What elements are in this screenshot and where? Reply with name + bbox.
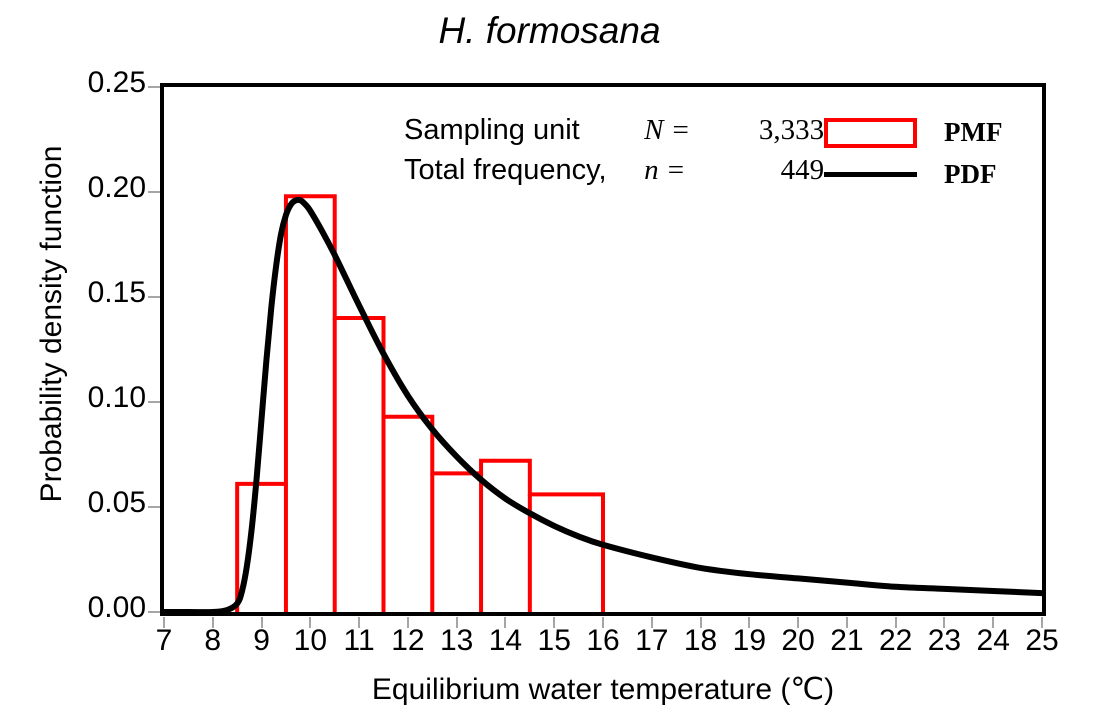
y-tick-mark xyxy=(148,506,160,508)
pmf-step-outline xyxy=(237,196,603,612)
legend-symbol-n-small: n = xyxy=(644,154,716,187)
y-tick-label: 0.15 xyxy=(0,276,146,310)
page-title: H. formosana xyxy=(0,10,1099,52)
pmf-swatch-icon xyxy=(824,118,917,148)
y-tick-label: 0.00 xyxy=(0,591,146,625)
y-axis-title: Probability density function xyxy=(35,24,69,624)
y-tick-label: 0.10 xyxy=(0,381,146,415)
y-tick-label: 0.25 xyxy=(0,66,146,100)
legend-row-total-frequency: Total frequency, n = 449 PDF xyxy=(404,154,824,194)
legend-symbol-n-capital: N = xyxy=(644,114,716,147)
x-tick-mark xyxy=(992,617,994,628)
y-tick-mark xyxy=(148,191,160,193)
pdf-swatch-icon xyxy=(824,172,917,177)
x-tick-mark xyxy=(504,617,506,628)
x-tick-mark xyxy=(700,617,702,628)
y-tick-mark xyxy=(148,401,160,403)
legend-value-sampling-unit: 3,333 xyxy=(724,114,824,147)
x-tick-mark xyxy=(212,617,214,628)
x-tick-mark xyxy=(846,617,848,628)
pmf-series xyxy=(237,196,603,612)
chart-figure: H. formosana Probability density functio… xyxy=(0,0,1099,714)
x-tick-mark xyxy=(895,617,897,628)
x-tick-mark xyxy=(163,617,165,628)
y-tick-mark xyxy=(148,296,160,298)
x-tick-mark xyxy=(797,617,799,628)
legend-value-total-frequency: 449 xyxy=(724,154,824,187)
legend-row-sampling-unit: Sampling unit N = 3,333 PMF xyxy=(404,114,824,154)
y-tick-label: 0.05 xyxy=(0,486,146,520)
y-tick-mark xyxy=(148,611,160,613)
y-tick-mark xyxy=(148,86,160,88)
y-tick-label: 0.20 xyxy=(0,171,146,205)
legend-label-total-frequency: Total frequency, xyxy=(404,154,636,187)
x-tick-mark xyxy=(456,617,458,628)
x-tick-mark xyxy=(261,617,263,628)
x-tick-mark xyxy=(309,617,311,628)
x-tick-mark xyxy=(748,617,750,628)
x-tick-mark xyxy=(602,617,604,628)
legend-key-pmf: PMF xyxy=(944,117,1002,148)
x-tick-mark xyxy=(1041,617,1043,628)
x-tick-mark xyxy=(943,617,945,628)
x-tick-mark xyxy=(358,617,360,628)
legend: Sampling unit N = 3,333 PMF Total freque… xyxy=(404,114,824,194)
x-tick-mark xyxy=(553,617,555,628)
x-tick-mark xyxy=(651,617,653,628)
x-tick-mark xyxy=(407,617,409,628)
x-tick-label: 25 xyxy=(1012,624,1072,658)
x-axis-title: Equilibrium water temperature (℃) xyxy=(163,672,1043,707)
legend-key-pdf: PDF xyxy=(944,159,996,190)
legend-label-sampling-unit: Sampling unit xyxy=(404,114,636,147)
